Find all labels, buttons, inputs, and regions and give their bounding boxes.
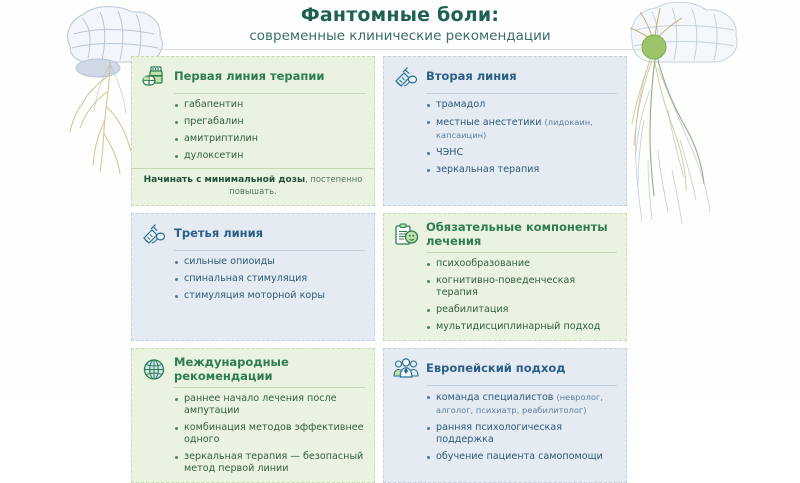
list-item: дулоксетин <box>174 150 365 162</box>
list-item: психообразование <box>426 258 617 270</box>
list-item: раннее начало лечения после ампутации <box>174 393 365 417</box>
clipboard-head-icon <box>393 222 419 247</box>
card-item-list: сильные опиоиды спинальная стимуляция ст… <box>141 256 365 302</box>
list-item: трамадол <box>426 99 617 111</box>
item-text: местные анестетики <box>436 117 545 128</box>
card-divider <box>174 250 365 251</box>
list-item: ранняя психологическая поддержка <box>426 422 617 446</box>
item-text: ЧЭНС <box>436 147 463 158</box>
list-item: зеркальная терапия — безопасный метод пе… <box>174 451 365 475</box>
syringe-icon <box>393 64 419 89</box>
card-item-list: команда специалистов (невролог, алголог,… <box>393 391 617 463</box>
list-item: местные анестетики (лидокаин, капсаицин) <box>426 116 617 142</box>
card-third-line[interactable]: Третья линия сильные опиоиды спинальная … <box>131 213 375 341</box>
card-header: Международные рекомендации <box>141 355 365 383</box>
team-icon <box>393 356 419 381</box>
card-title: Первая линия терапии <box>174 69 324 83</box>
card-header: Вторая линия <box>393 63 617 89</box>
list-item: мультидисциплинарный подход <box>426 321 617 333</box>
page-title: Фантомные боли: <box>0 4 800 26</box>
card-note: Начинать с минимальной дозы, постепенно … <box>132 168 374 198</box>
item-text: зеркальная терапия <box>436 164 539 175</box>
list-item: команда специалистов (невролог, алголог,… <box>426 391 617 417</box>
card-header: Европейский подход <box>393 355 617 381</box>
list-item: ЧЭНС <box>426 147 617 159</box>
card-european-approach[interactable]: Европейский подход команда специалистов … <box>383 348 627 483</box>
list-item: сильные опиоиды <box>174 256 365 268</box>
card-header: Обязательные компоненты лечения <box>393 220 617 248</box>
card-title: Обязательные компоненты лечения <box>426 220 617 248</box>
card-item-list: психообразование когнитивно-поведенческа… <box>393 258 617 333</box>
list-item: спинальная стимуляция <box>174 273 365 285</box>
card-header: Первая линия терапии <box>141 63 365 89</box>
card-title: Вторая линия <box>426 69 517 83</box>
syringe-icon <box>141 221 167 246</box>
card-divider <box>174 93 365 94</box>
card-item-list: раннее начало лечения после ампутации ко… <box>141 393 365 475</box>
card-item-list: габапентин прегабалин амитриптилин дулок… <box>141 99 365 162</box>
page-subtitle: современные клинические рекомендации <box>0 28 800 45</box>
item-text: ранняя психологическая поддержка <box>436 422 562 445</box>
note-emphasis: Начинать с минимальной дозы <box>144 175 305 185</box>
list-item: стимуляция моторной коры <box>174 290 365 302</box>
list-item: обучение пациента самопомощи <box>426 451 617 463</box>
pill-bottle-icon <box>141 64 167 89</box>
card-header: Третья линия <box>141 220 365 246</box>
list-item: прегабалин <box>174 116 365 128</box>
list-item: реабилитация <box>426 304 617 316</box>
globe-icon <box>141 357 167 382</box>
card-divider <box>426 93 617 94</box>
card-item-list: трамадол местные анестетики (лидокаин, к… <box>393 99 617 176</box>
cards-grid: Первая линия терапии габапентин прегабал… <box>131 56 659 483</box>
card-second-line[interactable]: Вторая линия трамадол местные анестетики… <box>383 56 627 206</box>
card-divider <box>426 252 617 253</box>
item-text: команда специалистов <box>436 392 557 403</box>
list-item: габапентин <box>174 99 365 111</box>
item-text: обучение пациента самопомощи <box>436 451 603 462</box>
card-mandatory-components[interactable]: Обязательные компоненты лечения психообр… <box>383 213 627 341</box>
list-item: комбинация методов эффективнее одного <box>174 422 365 446</box>
infographic-canvas: Фантомные боли: современные клинические … <box>0 0 800 400</box>
card-international-recommendations[interactable]: Международные рекомендации раннее начало… <box>131 348 375 483</box>
list-item: амитриптилин <box>174 133 365 145</box>
header-divider <box>158 49 642 50</box>
card-first-line-therapy[interactable]: Первая линия терапии габапентин прегабал… <box>131 56 375 206</box>
card-divider <box>174 387 365 388</box>
card-divider <box>426 385 617 386</box>
card-title: Европейский подход <box>426 361 566 375</box>
item-text: трамадол <box>436 99 485 110</box>
card-title: Третья линия <box>174 226 263 240</box>
card-title: Международные рекомендации <box>174 355 365 383</box>
page-header: Фантомные боли: современные клинические … <box>0 0 800 52</box>
list-item: зеркальная терапия <box>426 164 617 176</box>
list-item: когнитивно-поведенческая терапия <box>426 275 617 299</box>
